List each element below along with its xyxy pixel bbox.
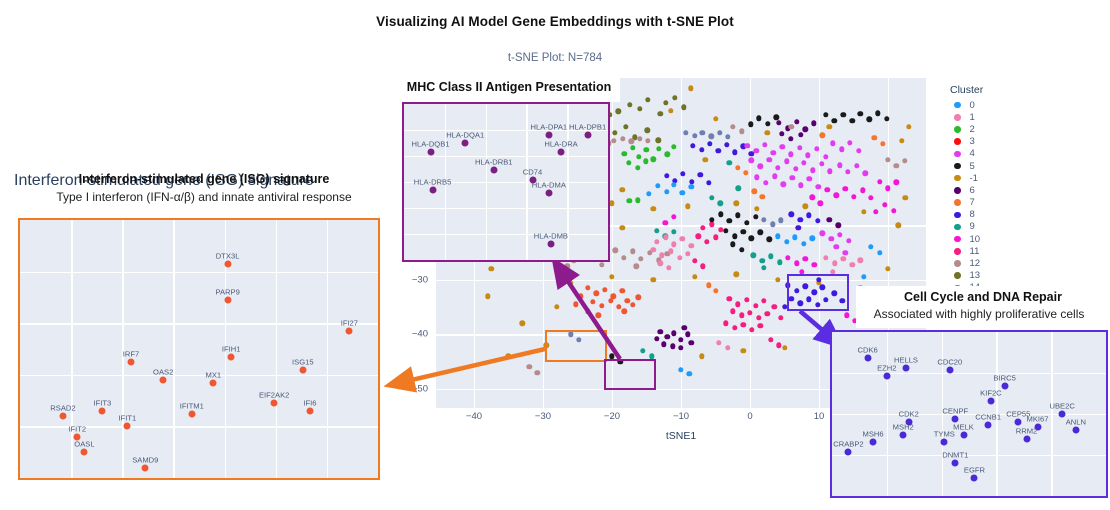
gene-dot xyxy=(971,474,978,481)
cellcycle-highlight-box[interactable] xyxy=(787,274,849,311)
gene-dot xyxy=(987,397,994,404)
panel-gridline-vertical xyxy=(173,220,174,478)
legend-item[interactable]: 9 xyxy=(948,221,1018,233)
gene-marker: IFIT1 xyxy=(124,423,131,430)
legend-item[interactable]: 4 xyxy=(948,148,1018,160)
gridline-vertical xyxy=(750,78,751,408)
gene-dot xyxy=(59,413,66,420)
gene-marker: CCNB1 xyxy=(985,422,992,429)
gene-marker: DTX3L xyxy=(224,260,231,267)
gene-marker: ANLN xyxy=(1072,427,1079,434)
panel-gridline-vertical xyxy=(327,220,328,478)
legend-color-swatch xyxy=(954,114,961,121)
legend-color-swatch xyxy=(954,102,961,109)
x-tick-label: −20 xyxy=(604,411,620,422)
gene-marker: HLA-DPB1 xyxy=(584,132,591,139)
legend-item-label: 3 xyxy=(970,136,975,147)
gene-marker: EGFR xyxy=(971,474,978,481)
gene-marker: DNMT1 xyxy=(952,460,959,467)
gene-label: IFI27 xyxy=(341,318,358,327)
gene-marker: EIF2AK2 xyxy=(271,400,278,407)
x-tick-label: −10 xyxy=(673,411,689,422)
y-tick-label: −50 xyxy=(412,383,428,394)
gene-marker: RSAD2 xyxy=(59,413,66,420)
gene-marker: IRF7 xyxy=(127,358,134,365)
legend-item[interactable]: 12 xyxy=(948,257,1018,269)
gene-dot xyxy=(306,407,313,414)
legend-item-label: 8 xyxy=(970,209,975,220)
gene-marker: CRABP2 xyxy=(845,448,852,455)
gene-label: CCNB1 xyxy=(975,413,1001,422)
gene-marker: MSH6 xyxy=(870,438,877,445)
gene-dot xyxy=(228,353,235,360)
panel-gridline-horizontal xyxy=(832,373,1106,374)
gene-label: MKI67 xyxy=(1027,415,1049,424)
gridline-vertical xyxy=(681,78,682,408)
gene-dot xyxy=(952,415,959,422)
legend-title: Cluster xyxy=(950,84,1018,96)
legend-item-label: 10 xyxy=(970,234,981,245)
legend-item[interactable]: 8 xyxy=(948,209,1018,221)
gene-marker: IFIT3 xyxy=(99,407,106,414)
panel-gridline-vertical xyxy=(71,220,72,478)
legend-item-label: 13 xyxy=(970,270,981,281)
legend-items[interactable]: 012345-167891011121314 xyxy=(948,99,1018,294)
legend-item-label: 9 xyxy=(970,221,975,232)
gene-label: ANLN xyxy=(1066,418,1086,427)
gene-dot xyxy=(127,358,134,365)
cellcycle-title-text: Cell Cycle and DNA Repair xyxy=(856,290,1110,306)
gene-dot xyxy=(1072,427,1079,434)
legend-item-label: 4 xyxy=(970,148,975,159)
legend-color-swatch xyxy=(954,187,961,194)
gene-label: IFIT2 xyxy=(68,424,86,433)
gene-marker: HLA-DRB5 xyxy=(429,186,436,193)
gene-marker: CDC20 xyxy=(946,366,953,373)
mhc-title-text: MHC Class II Antigen Presentation xyxy=(398,80,620,96)
gene-label: CENPF xyxy=(942,406,968,415)
legend-item[interactable]: 2 xyxy=(948,123,1018,135)
x-tick-label: 10 xyxy=(814,411,825,422)
gene-label: IFIH1 xyxy=(222,344,241,353)
gene-marker: OAS2 xyxy=(160,376,167,383)
gene-label: DTX3L xyxy=(216,251,240,260)
legend-color-swatch xyxy=(954,224,961,231)
gene-label: HLA-DPA1 xyxy=(531,123,568,132)
gene-label: KIF2C xyxy=(980,388,1002,397)
gene-label: SAMD9 xyxy=(132,455,158,464)
gene-label: HLA-DMB xyxy=(534,232,568,241)
legend-item[interactable]: 11 xyxy=(948,245,1018,257)
gene-marker: OASL xyxy=(81,449,88,456)
gene-marker: RRM2 xyxy=(1023,435,1030,442)
gene-dot xyxy=(81,449,88,456)
gridline-vertical xyxy=(819,78,820,408)
gene-label: UBE2C xyxy=(1049,402,1074,411)
gene-label: HLA-DPB1 xyxy=(569,123,606,132)
gene-label: HLA-DQA1 xyxy=(446,131,484,140)
gene-dot xyxy=(584,132,591,139)
gene-dot xyxy=(346,327,353,334)
gene-label: IFIT3 xyxy=(93,398,111,407)
mhc-panel[interactable]: HLA-DPA1HLA-DPB1HLA-DQA1HLA-DRAHLA-DQB1H… xyxy=(402,102,610,262)
gene-dot xyxy=(1059,411,1066,418)
legend-item-label: 5 xyxy=(970,161,975,172)
gene-label: MSH2 xyxy=(893,423,914,432)
gridline-horizontal xyxy=(436,280,926,281)
isg-panel[interactable]: DTX3LPARP9IFI27IRF7IFIH1ISG15OAS2MX1EIF2… xyxy=(18,218,380,480)
gene-dot xyxy=(1001,383,1008,390)
gene-dot xyxy=(462,140,469,147)
gene-label: OASL xyxy=(74,440,94,449)
isg-title-text: Interferon-stimulated gene (ISG) signatu… xyxy=(14,172,394,188)
gene-dot xyxy=(545,189,552,196)
gene-marker: MX1 xyxy=(210,379,217,386)
cellcycle-panel[interactable]: CDK6HELLSEZH2CDC20BIRC5KIF2CUBE2CCDK2CEN… xyxy=(830,330,1108,498)
legend-item-label: 0 xyxy=(970,100,975,111)
gene-label: CDC20 xyxy=(937,357,962,366)
gene-label: PARP9 xyxy=(215,287,239,296)
panel-gridline-horizontal xyxy=(404,234,608,235)
gene-label: EIF2AK2 xyxy=(259,391,289,400)
gene-label: ISG15 xyxy=(292,357,314,366)
gene-label: CDK6 xyxy=(857,346,877,355)
gene-dot xyxy=(142,464,149,471)
panel-gridline-horizontal xyxy=(404,208,608,209)
gene-label: HLA-DMA xyxy=(532,180,566,189)
legend-color-swatch xyxy=(954,272,961,279)
gene-marker: BIRC5 xyxy=(1001,383,1008,390)
gene-marker: ISG15 xyxy=(299,366,306,373)
gene-marker: UBE2C xyxy=(1059,411,1066,418)
legend-item-label: 12 xyxy=(970,258,981,269)
gene-label: IRF7 xyxy=(123,349,139,358)
gene-dot xyxy=(224,296,231,303)
gene-dot xyxy=(271,400,278,407)
gene-marker: HLA-DMB xyxy=(547,241,554,248)
legend-item-label: 1 xyxy=(970,112,975,123)
gene-marker: KIF2C xyxy=(987,397,994,404)
gene-marker: HLA-DRA xyxy=(558,149,565,156)
gene-label: DNMT1 xyxy=(942,451,968,460)
gene-marker: HLA-DQB1 xyxy=(427,149,434,156)
page-subtitle: t-SNE Plot: N=784 xyxy=(0,52,1110,64)
gene-dot xyxy=(1023,435,1030,442)
gene-dot xyxy=(545,132,552,139)
gene-label: MELK xyxy=(953,423,974,432)
gene-dot xyxy=(960,432,967,439)
legend-item[interactable]: 1 xyxy=(948,111,1018,123)
gene-marker: SAMD9 xyxy=(142,464,149,471)
gene-dot xyxy=(124,423,131,430)
panel-gridline-vertical xyxy=(276,220,277,478)
gene-marker: TYMS xyxy=(941,438,948,445)
x-tick-label: 0 xyxy=(747,411,752,422)
gene-label: CRABP2 xyxy=(833,439,863,448)
legend-item[interactable]: -1 xyxy=(948,172,1018,184)
x-tick-label: −40 xyxy=(466,411,482,422)
gene-label: OAS2 xyxy=(153,367,173,376)
cluster-legend: Cluster 012345-167891011121314 xyxy=(948,84,1018,294)
gene-label: RRM2 xyxy=(1016,426,1038,435)
gene-label: CDK2 xyxy=(899,410,919,419)
gene-label: HELLS xyxy=(894,356,918,365)
gene-dot xyxy=(902,365,909,372)
legend-color-swatch xyxy=(954,138,961,145)
gene-dot xyxy=(941,438,948,445)
gene-marker: IFI27 xyxy=(346,327,353,334)
cellcycle-subtitle-text: Associated with highly proliferative cel… xyxy=(848,307,1110,322)
legend-color-swatch xyxy=(954,248,961,255)
legend-item[interactable]: 13 xyxy=(948,270,1018,282)
panel-gridline-horizontal xyxy=(20,323,378,324)
gene-marker: EZH2 xyxy=(883,373,890,380)
legend-item[interactable]: 3 xyxy=(948,136,1018,148)
gene-label: MX1 xyxy=(206,370,222,379)
gene-marker: MELK xyxy=(960,432,967,439)
gene-label: IFIT1 xyxy=(119,414,137,423)
x-tick-label: −30 xyxy=(535,411,551,422)
gene-marker: MSH2 xyxy=(900,432,907,439)
legend-color-swatch xyxy=(954,199,961,206)
gene-dot xyxy=(845,448,852,455)
gene-label: EGFR xyxy=(964,465,985,474)
gene-dot xyxy=(210,379,217,386)
gene-marker: PARP9 xyxy=(224,296,231,303)
legend-color-swatch xyxy=(954,151,961,158)
legend-item-label: 7 xyxy=(970,197,975,208)
legend-color-swatch xyxy=(954,236,961,243)
legend-item[interactable]: 0 xyxy=(948,99,1018,111)
gene-dot xyxy=(900,432,907,439)
gene-marker: HLA-DMA xyxy=(545,189,552,196)
gene-dot xyxy=(558,149,565,156)
gene-label: HLA-DRB5 xyxy=(414,177,452,186)
legend-color-swatch xyxy=(954,260,961,267)
gene-label: TYMS xyxy=(934,429,955,438)
gene-dot xyxy=(985,422,992,429)
gene-dot xyxy=(946,366,953,373)
gene-label: MSH6 xyxy=(863,429,884,438)
gene-label: EZH2 xyxy=(877,364,896,373)
legend-item[interactable]: 7 xyxy=(948,197,1018,209)
gene-marker: CDK6 xyxy=(864,355,871,362)
gene-dot xyxy=(224,260,231,267)
legend-color-swatch xyxy=(954,163,961,170)
gene-label: IFITM1 xyxy=(180,401,204,410)
isg-subtitle-text: Type I interferon (IFN-α/β) and innate a… xyxy=(4,190,404,205)
gene-marker: HELLS xyxy=(902,365,909,372)
gene-dot xyxy=(952,460,959,467)
panel-gridline-horizontal xyxy=(20,375,378,376)
gene-label: HLA-DRB1 xyxy=(475,157,513,166)
mhc-highlight-box[interactable] xyxy=(604,359,656,390)
legend-item[interactable]: 6 xyxy=(948,184,1018,196)
gene-label: CD74 xyxy=(523,168,542,177)
gene-marker: CEP55 xyxy=(1015,419,1022,426)
y-tick-label: −40 xyxy=(412,329,428,340)
legend-color-swatch xyxy=(954,212,961,219)
gene-marker: HLA-DRB1 xyxy=(490,166,497,173)
panel-gridline-horizontal xyxy=(832,455,1106,456)
gene-dot xyxy=(99,407,106,414)
gene-label: BIRC5 xyxy=(993,374,1015,383)
isg-highlight-box[interactable] xyxy=(545,330,607,362)
legend-color-swatch xyxy=(954,126,961,133)
gene-marker: HLA-DQA1 xyxy=(462,140,469,147)
gene-dot xyxy=(883,373,890,380)
legend-item-label: 2 xyxy=(970,124,975,135)
gene-marker: IFI6 xyxy=(306,407,313,414)
gene-marker: CENPF xyxy=(952,415,959,422)
gene-label: HLA-DQB1 xyxy=(412,140,450,149)
gene-label: HLA-DRA xyxy=(544,140,577,149)
gene-marker: IFITM1 xyxy=(188,410,195,417)
legend-item[interactable]: 10 xyxy=(948,233,1018,245)
gene-dot xyxy=(870,438,877,445)
gene-dot xyxy=(429,186,436,193)
gene-dot xyxy=(188,410,195,417)
gene-dot xyxy=(427,149,434,156)
gene-dot xyxy=(864,355,871,362)
gene-dot xyxy=(547,241,554,248)
gene-label: IFI6 xyxy=(303,398,316,407)
panel-gridline-horizontal xyxy=(20,272,378,273)
page-title: Visualizing AI Model Gene Embeddings wit… xyxy=(0,14,1110,29)
legend-item[interactable]: 5 xyxy=(948,160,1018,172)
legend-item-label: 6 xyxy=(970,185,975,196)
legend-color-swatch xyxy=(954,175,961,182)
gene-dot xyxy=(160,376,167,383)
gene-label: RSAD2 xyxy=(50,404,75,413)
gene-marker: IFIH1 xyxy=(228,353,235,360)
legend-item-label: -1 xyxy=(970,173,978,184)
legend-item-label: 11 xyxy=(970,246,980,257)
gene-dot xyxy=(490,166,497,173)
y-tick-label: −30 xyxy=(412,274,428,285)
gene-dot xyxy=(1015,419,1022,426)
gene-dot xyxy=(299,366,306,373)
gene-marker: HLA-DPA1 xyxy=(545,132,552,139)
